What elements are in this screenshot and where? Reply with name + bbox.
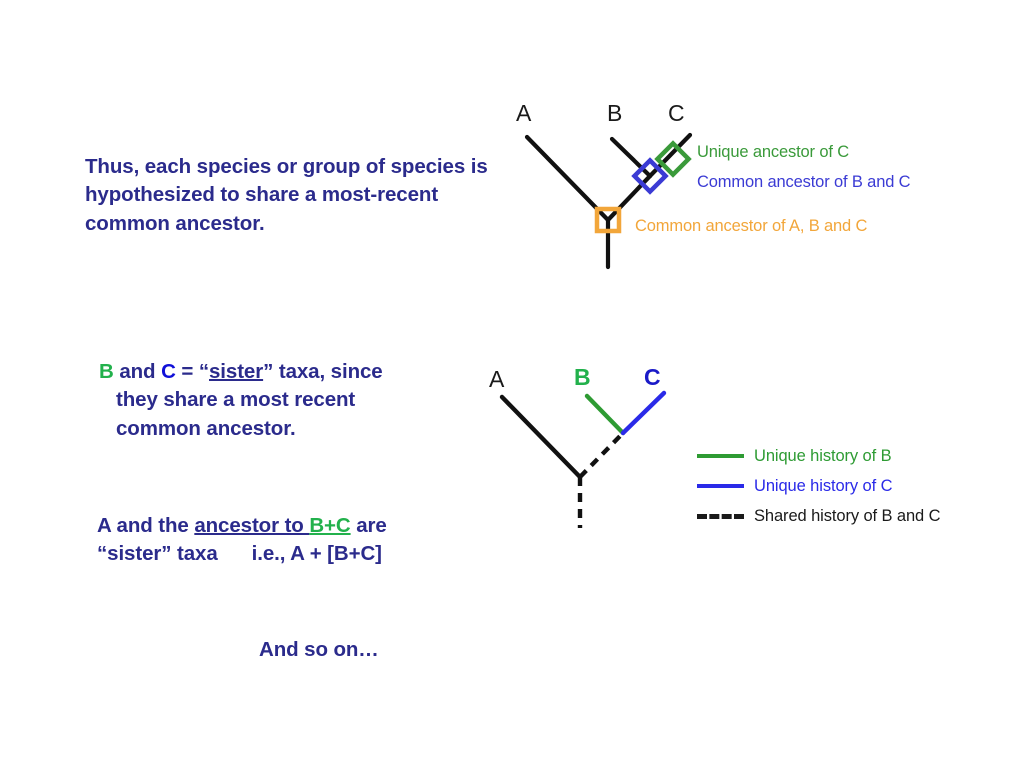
- legend-bottom-diagram: Unique history of B Unique history of C …: [697, 441, 940, 531]
- token-sister-underlined: sister: [209, 360, 263, 383]
- legend-swatch-blue-solid-icon: [697, 484, 744, 488]
- legend-swatch-black-dashed-icon: [697, 514, 744, 519]
- shared-history-branch-bottom: [580, 433, 623, 477]
- legend-swatch-green-solid-icon: [697, 454, 744, 458]
- token-rest-line1: ” taxa, since: [263, 360, 383, 383]
- token-a-and-the: A and the: [97, 514, 194, 537]
- token-ancestor-to-underlined: ancestor to: [194, 514, 309, 537]
- tip-label-c-bottom: C: [644, 364, 661, 391]
- paragraph-ancestor-to-bc: A and the ancestor to B+C are “sister” t…: [97, 512, 497, 569]
- token-sister-taxa: “sister” taxa: [97, 542, 218, 565]
- legend-row-unique-history-b: Unique history of B: [697, 441, 940, 471]
- tip-label-b-bottom: B: [574, 364, 591, 391]
- token-c-blue: C: [161, 360, 176, 383]
- annotation-unique-ancestor-of-c: Unique ancestor of C: [697, 143, 849, 162]
- tree-diagram-top: A B C Unique ancestor of C Common ancest…: [490, 95, 1010, 275]
- paragraph-and-so-on: And so on…: [259, 636, 519, 664]
- slide-canvas: Thus, each species or group of species i…: [0, 0, 1024, 768]
- annotation-common-ancestor-of-b-and-c: Common ancestor of B and C: [697, 173, 910, 192]
- tip-label-b-top: B: [607, 100, 622, 127]
- tip-label-a-bottom: A: [489, 366, 504, 393]
- legend-row-unique-history-c: Unique history of C: [697, 471, 940, 501]
- annotation-common-ancestor-of-a-b-and-c: Common ancestor of A, B and C: [635, 217, 867, 236]
- legend-label-unique-history-b: Unique history of B: [754, 447, 892, 466]
- legend-row-shared-history-bc: Shared history of B and C: [697, 501, 940, 531]
- paragraph-thus-each-species: Thus, each species or group of species i…: [85, 153, 525, 238]
- token-b-green: B: [99, 360, 114, 383]
- token-and: and: [114, 360, 161, 383]
- legend-label-shared-history-bc: Shared history of B and C: [754, 507, 940, 526]
- branch-b-green-bottom: [587, 396, 623, 433]
- legend-label-unique-history-c: Unique history of C: [754, 477, 892, 496]
- token-ie-a-plus-bc: i.e., A + [B+C]: [252, 542, 382, 565]
- token-are: are: [351, 514, 387, 537]
- tip-label-a-top: A: [516, 100, 531, 127]
- branch-a-bottom: [502, 397, 580, 477]
- token-equals-quote: = “: [176, 360, 209, 383]
- token-bc-green-underlined: B+C: [309, 514, 350, 537]
- paragraph-sister-taxa: B and C = “sister” taxa, since they shar…: [99, 358, 489, 443]
- ancestor-line-2: “sister” taxai.e., A + [B+C]: [97, 540, 497, 568]
- branch-b-top: [612, 139, 650, 176]
- branch-c-blue-bottom: [623, 393, 664, 433]
- sister-line-2: they share a most recent: [99, 386, 489, 414]
- tree-bottom-svg: [480, 360, 720, 550]
- tip-label-c-top: C: [668, 100, 685, 127]
- sister-line-3: common ancestor.: [99, 415, 489, 443]
